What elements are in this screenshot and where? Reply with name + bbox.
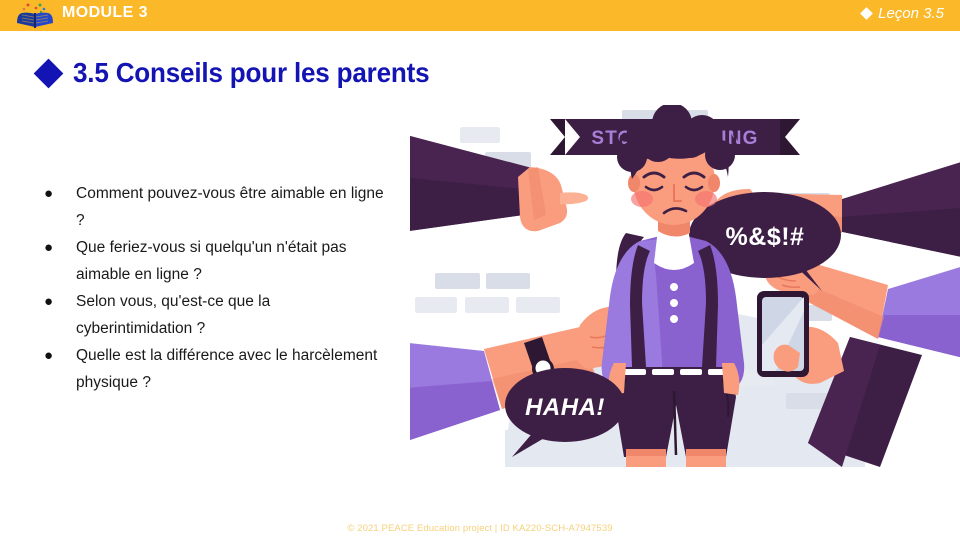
bullet-icon: ● (40, 342, 76, 369)
list-item: ● Selon vous, qu'est-ce que la cyberinti… (40, 288, 390, 342)
footer-copyright: © 2021 PEACE Education project | ID KA22… (0, 523, 960, 534)
stop-bullying-illustration: STOP BULLYING (410, 105, 960, 467)
module-label: MODULE 3 (62, 4, 148, 22)
lesson-label-text: Leçon 3.5 (878, 5, 944, 22)
question-list: ● Comment pouvez-vous être aimable en li… (40, 180, 390, 396)
list-item-label: Quelle est la différence avec le harcèle… (76, 342, 390, 396)
list-item-label: Comment pouvez-vous être aimable en lign… (76, 180, 390, 234)
list-item: ● Quelle est la différence avec le harcè… (40, 342, 390, 396)
speech-bubble-laugh-text: HAHA! (525, 394, 605, 421)
speech-bubble-swear-text: %&$!# (726, 223, 805, 251)
list-item-label: Selon vous, qu'est-ce que la cyberintimi… (76, 288, 390, 342)
page-title-text: 3.5 Conseils pour les parents (73, 57, 429, 89)
page-title: 3.5 Conseils pour les parents (38, 57, 456, 89)
diamond-icon (860, 7, 873, 20)
bullet-icon: ● (40, 288, 76, 315)
header-bar: MODULE 3 Leçon 3.5 (0, 0, 960, 31)
lesson-label: Leçon 3.5 (862, 5, 944, 22)
list-item: ● Comment pouvez-vous être aimable en li… (40, 180, 390, 234)
slide-root: MODULE 3 Leçon 3.5 3.5 Conseils pour les… (0, 0, 960, 540)
list-item-label: Que feriez-vous si quelqu'un n'était pas… (76, 234, 390, 288)
bullet-icon: ● (40, 180, 76, 207)
bullet-icon: ● (40, 234, 76, 261)
diamond-bullet-icon (34, 58, 64, 88)
list-item: ● Que feriez-vous si quelqu'un n'était p… (40, 234, 390, 288)
open-book-logo (14, 1, 58, 30)
